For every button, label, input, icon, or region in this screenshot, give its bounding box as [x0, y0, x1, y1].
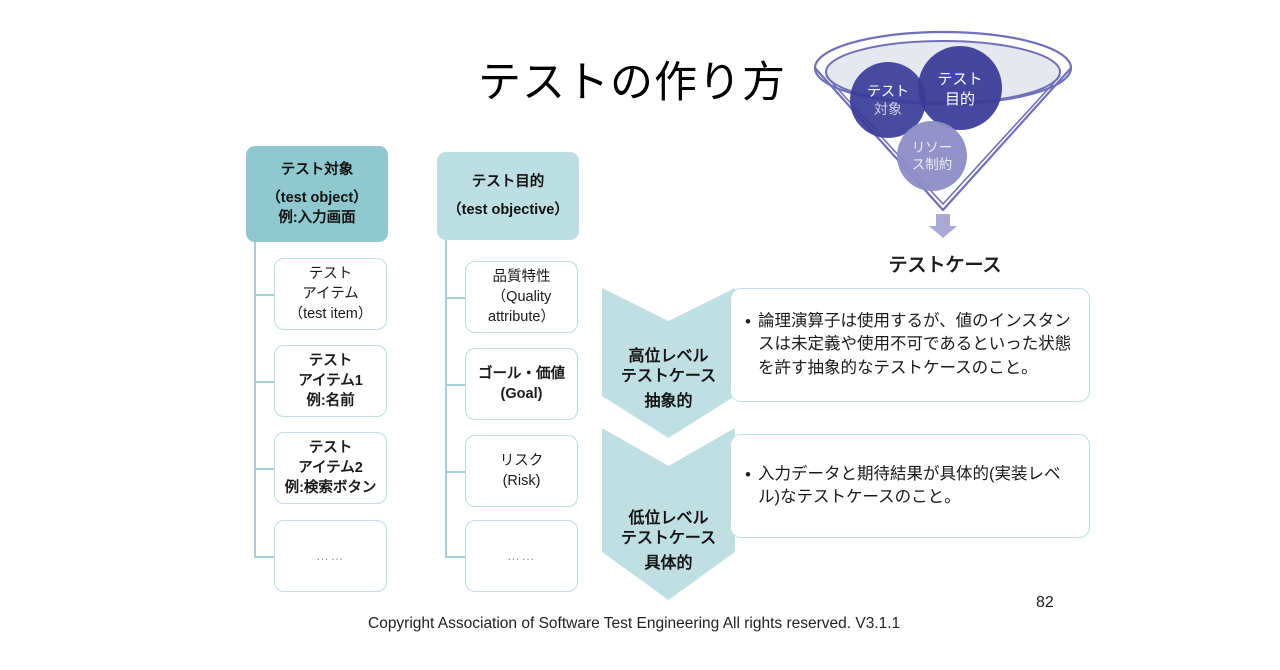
funnel-svg: テスト 対象 テスト 目的 リソー ス制約 [812, 28, 1074, 240]
list-item[interactable]: テスト アイテム1 例:名前 [274, 345, 387, 417]
node-line: アイテム2 [285, 458, 377, 478]
test-objective-circle-line2: 目的 [945, 91, 975, 108]
node-line: 品質特性 [488, 267, 555, 287]
test-object-head-line1: テスト対象 [251, 160, 383, 181]
high-level-line2: テストケース [621, 367, 716, 387]
high-level-callout-text: 論理演算子は使用するが、値のインスタンスは未定義や使用不可であるといった状態を許… [758, 310, 1073, 380]
tree-stub [445, 556, 465, 558]
node-line: テスト [285, 438, 377, 458]
tree-stub [254, 294, 274, 296]
node-line: アイテム1 [298, 371, 363, 391]
ellipsis-label: …… [316, 547, 345, 565]
node-line: （test item） [289, 304, 373, 324]
tree-stub [445, 471, 465, 473]
list-item[interactable]: 品質特性 （Quality attribute） [465, 261, 578, 333]
copyright-footer: Copyright Association of Software Test E… [368, 615, 900, 633]
node-line: リスク [500, 451, 544, 471]
node-line: (Goal) [478, 384, 565, 404]
node-line: (Risk) [500, 471, 544, 491]
test-objective-head-line2: （test objective） [442, 200, 574, 221]
tree-stub [445, 384, 465, 386]
bullet-icon: • [745, 463, 751, 487]
list-item[interactable]: テスト アイテム （test item） [274, 258, 387, 330]
slide-canvas: テストの作り方 テスト 対象 テスト 目的 リソー [0, 0, 1280, 670]
node-line: ゴール・価値 [478, 364, 565, 384]
node-line: attribute） [488, 307, 555, 327]
node-line: テスト [298, 351, 363, 371]
list-item[interactable]: …… [274, 520, 387, 592]
test-objective-head-line1: テスト目的 [442, 172, 574, 193]
node-line: アイテム [289, 284, 373, 304]
page-number: 82 [1036, 594, 1054, 612]
test-object-head-line2: （test object） [251, 188, 383, 209]
low-level-line1: 低位レベル [628, 509, 708, 529]
test-object-tree: テスト対象 （test object） 例:入力画面 テスト アイテム （tes… [246, 146, 392, 596]
test-object-head[interactable]: テスト対象 （test object） 例:入力画面 [246, 146, 388, 242]
test-object-head-line3: 例:入力画面 [251, 208, 383, 229]
node-line: （Quality [488, 287, 555, 307]
node-line: 例:名前 [298, 391, 363, 411]
tree-spine [445, 240, 447, 558]
resource-constraint-circle: リソー ス制約 [897, 121, 967, 191]
tree-stub [254, 468, 274, 470]
funnel-diagram: テスト 対象 テスト 目的 リソー ス制約 [812, 28, 1074, 240]
low-level-callout: • 入力データと期待結果が具体的(実装レベル)なテストケースのこと。 [730, 434, 1090, 538]
resource-circle-line2: ス制約 [912, 157, 953, 172]
bullet-icon: • [745, 310, 751, 334]
tree-stub [445, 297, 465, 299]
tree-stub [254, 556, 274, 558]
test-case-label: テストケース [850, 250, 1040, 277]
tree-spine [254, 242, 256, 558]
high-level-callout: • 論理演算子は使用するが、値のインスタンスは未定義や使用不可であるといった状態… [730, 288, 1090, 402]
high-level-chevron[interactable]: 高位レベル テストケース 抽象的 [602, 288, 735, 438]
low-level-line3: 具体的 [644, 554, 692, 574]
list-item[interactable]: …… [465, 520, 578, 592]
node-line: テスト [289, 264, 373, 284]
test-object-circle-line2: 対象 [874, 101, 902, 117]
resource-circle-line1: リソー [912, 140, 953, 155]
page-title: テストの作り方 [478, 48, 786, 110]
low-level-line2: テストケース [621, 529, 716, 549]
list-item[interactable]: ゴール・価値 (Goal) [465, 348, 578, 420]
test-objective-tree: テスト目的 （test objective） 品質特性 （Quality att… [437, 152, 583, 596]
test-objective-head[interactable]: テスト目的 （test objective） [437, 152, 579, 240]
tree-stub [254, 381, 274, 383]
low-level-chevron[interactable]: 低位レベル テストケース 具体的 [602, 428, 735, 600]
funnel-down-arrow-icon [929, 214, 957, 238]
node-line: 例:検索ボタン [285, 478, 377, 498]
ellipsis-label: …… [507, 547, 536, 565]
list-item[interactable]: リスク (Risk) [465, 435, 578, 507]
test-object-circle-line1: テスト [867, 83, 909, 99]
high-level-line3: 抽象的 [644, 392, 692, 412]
high-level-line1: 高位レベル [628, 347, 708, 367]
list-item[interactable]: テスト アイテム2 例:検索ボタン [274, 432, 387, 504]
test-objective-circle: テスト 目的 [918, 46, 1002, 130]
low-level-callout-text: 入力データと期待結果が具体的(実装レベル)なテストケースのこと。 [758, 463, 1073, 510]
test-objective-circle-line1: テスト [937, 71, 982, 88]
